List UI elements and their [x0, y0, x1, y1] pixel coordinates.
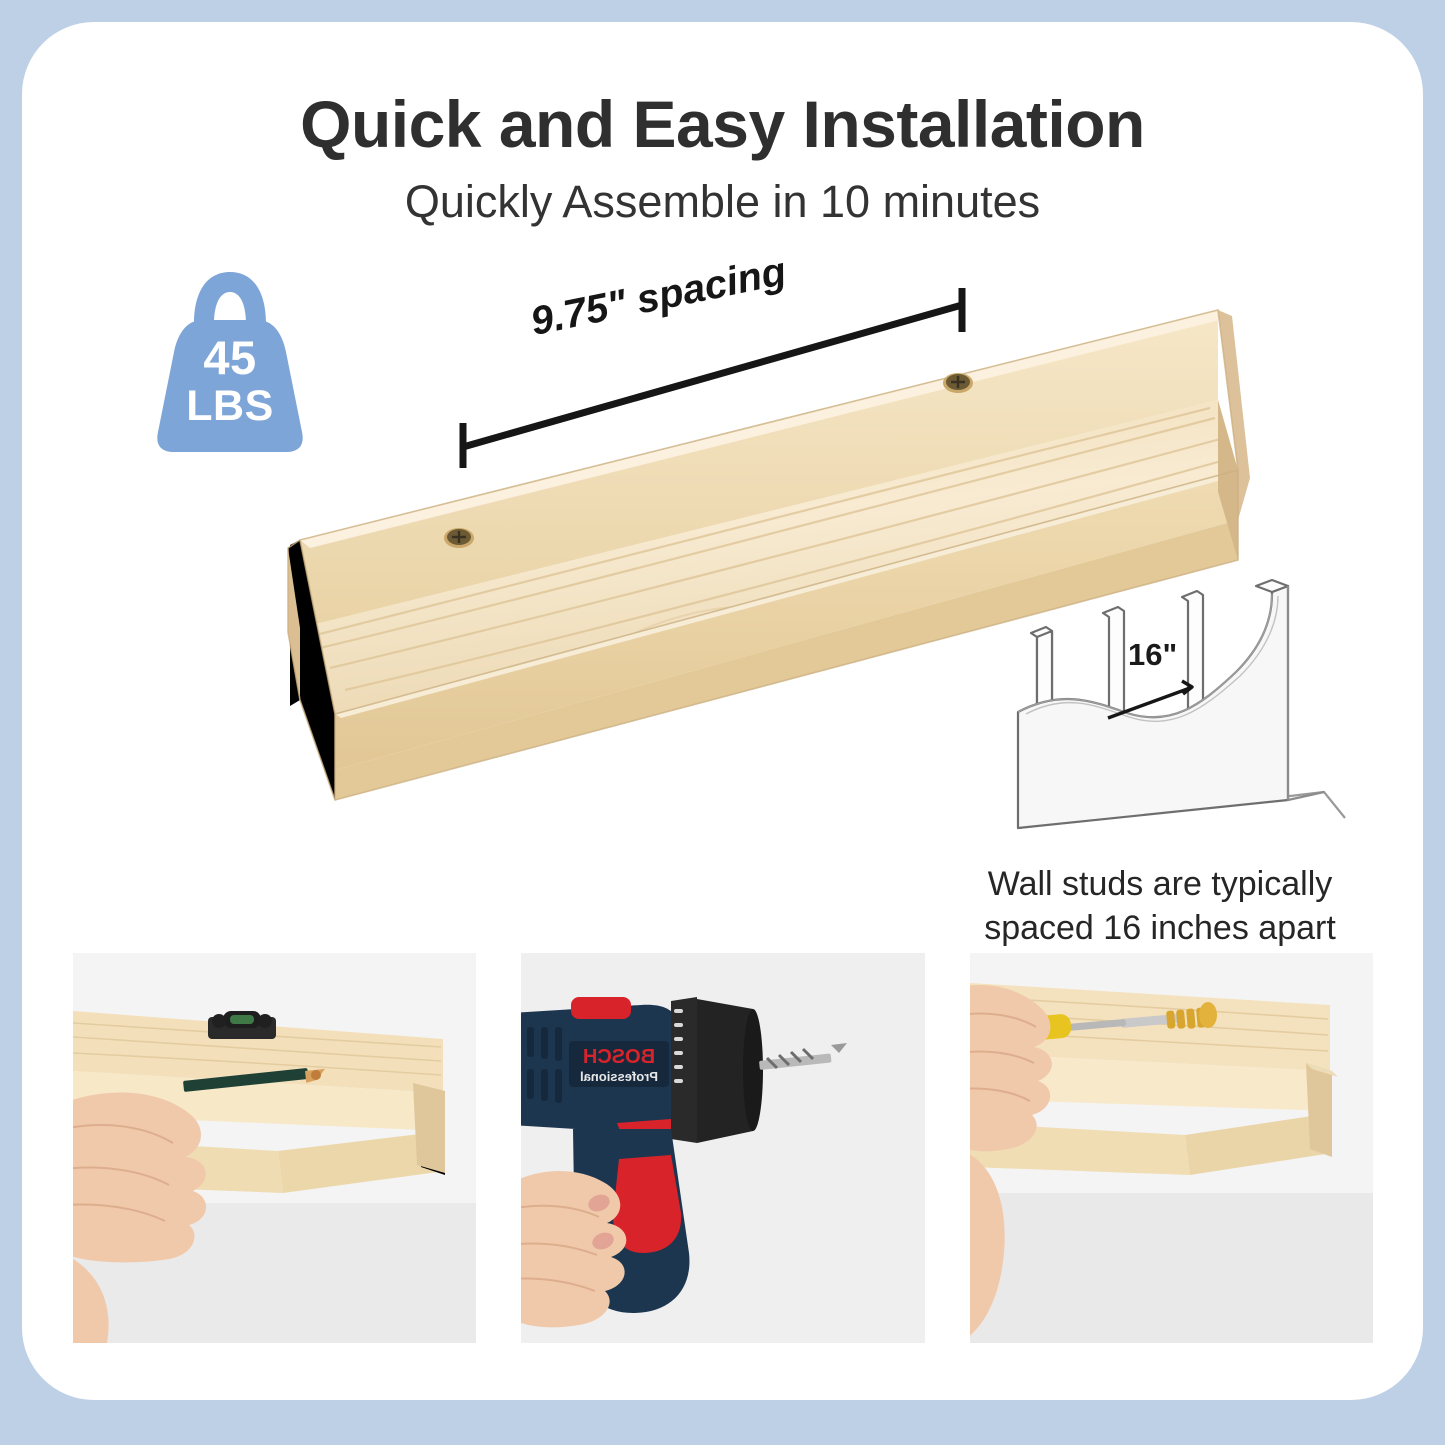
bubble-level-icon — [208, 1011, 276, 1039]
shelf-and-diagram-svg — [0, 0, 1445, 950]
svg-text:BOSCH: BOSCH — [583, 1046, 655, 1068]
svg-text:Professional: Professional — [580, 1069, 658, 1084]
hand-screwdriver-photo — [970, 953, 1373, 1343]
stud-caption: Wall studs are typically spaced 16 inche… — [955, 862, 1365, 950]
wall-studs-diagram — [1018, 580, 1345, 828]
installation-steps: BOSCH Professional — [73, 953, 1373, 1343]
hand-pencil-level-photo — [73, 953, 476, 1343]
screw-right — [943, 373, 973, 393]
step-photo-mark — [73, 953, 476, 1343]
step-photo-drill: BOSCH Professional — [521, 953, 924, 1343]
step-photo-screw — [970, 953, 1373, 1343]
infographic-root: Quick and Easy Installation Quickly Asse… — [0, 0, 1445, 1445]
bosch-drill-photo: BOSCH Professional — [521, 953, 924, 1343]
hero-illustration: 9.75" spacing 16" — [0, 0, 1445, 950]
screw-left — [444, 528, 474, 548]
stud-dimension-label: 16" — [1128, 637, 1177, 673]
